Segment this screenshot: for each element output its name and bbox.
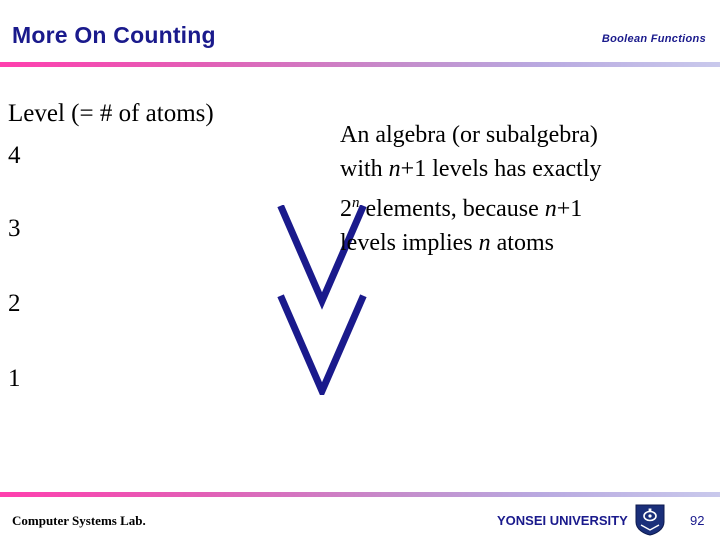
body-line-1: An algebra (or subalgebra) <box>340 118 720 152</box>
header-subject: Boolean Functions <box>602 33 706 45</box>
level-tick-3: 3 <box>8 215 21 243</box>
math-num-1-2: 1 <box>570 196 582 222</box>
body-line-4-pre: levels implies <box>340 230 473 256</box>
slide: More On Counting Boolean Functions Level… <box>0 0 720 540</box>
body-line-3-mid: elements, because <box>366 196 539 222</box>
body-line-2-pre: with <box>340 156 383 182</box>
math-var-n-2: n <box>545 196 557 222</box>
math-var-n-3: n <box>479 230 491 256</box>
body-line-4: levels implies n atoms <box>340 226 720 260</box>
footer-divider <box>0 492 720 497</box>
level-axis-label: Level (= # of atoms) <box>8 100 214 128</box>
level-tick-1: 1 <box>8 365 21 393</box>
math-op-plus: + <box>401 156 415 182</box>
math-var-n: n <box>389 156 401 182</box>
header-divider <box>0 62 720 67</box>
level-tick-4: 4 <box>8 142 21 170</box>
math-op-plus-2: + <box>557 196 571 222</box>
page-title: More On Counting <box>12 22 216 49</box>
yonsei-shield-logo-icon <box>635 504 665 536</box>
body-text: An algebra (or subalgebra) with n+1 leve… <box>340 118 720 260</box>
math-base-2: 2 <box>340 196 352 222</box>
footer-page-number: 92 <box>690 513 704 528</box>
math-num-1: 1 <box>414 156 426 182</box>
body-line-2: with n+1 levels has exactly <box>340 152 720 186</box>
math-exponent-n: n <box>352 195 360 211</box>
body-line-2-post: levels has exactly <box>432 156 601 182</box>
body-line-3: 2n elements, because n+1 <box>340 186 720 226</box>
footer-lab: Computer Systems Lab. <box>12 513 146 529</box>
level-tick-2: 2 <box>8 290 21 318</box>
footer-university: YONSEI UNIVERSITY <box>497 513 628 528</box>
body-line-4-post: atoms <box>497 230 554 256</box>
